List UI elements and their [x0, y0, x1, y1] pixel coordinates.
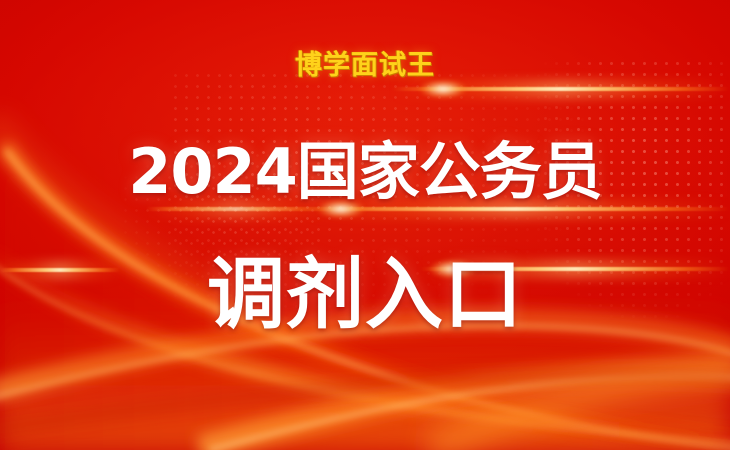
title-line-1: 2024国家公务员: [0, 141, 730, 203]
lens-flare-core-top: [420, 80, 466, 98]
promo-banner: 博学面试王 2024国家公务员 调剂入口: [0, 0, 730, 450]
title-line-2: 调剂入口: [0, 256, 730, 334]
brand-header-text: 博学面试王: [0, 43, 730, 82]
